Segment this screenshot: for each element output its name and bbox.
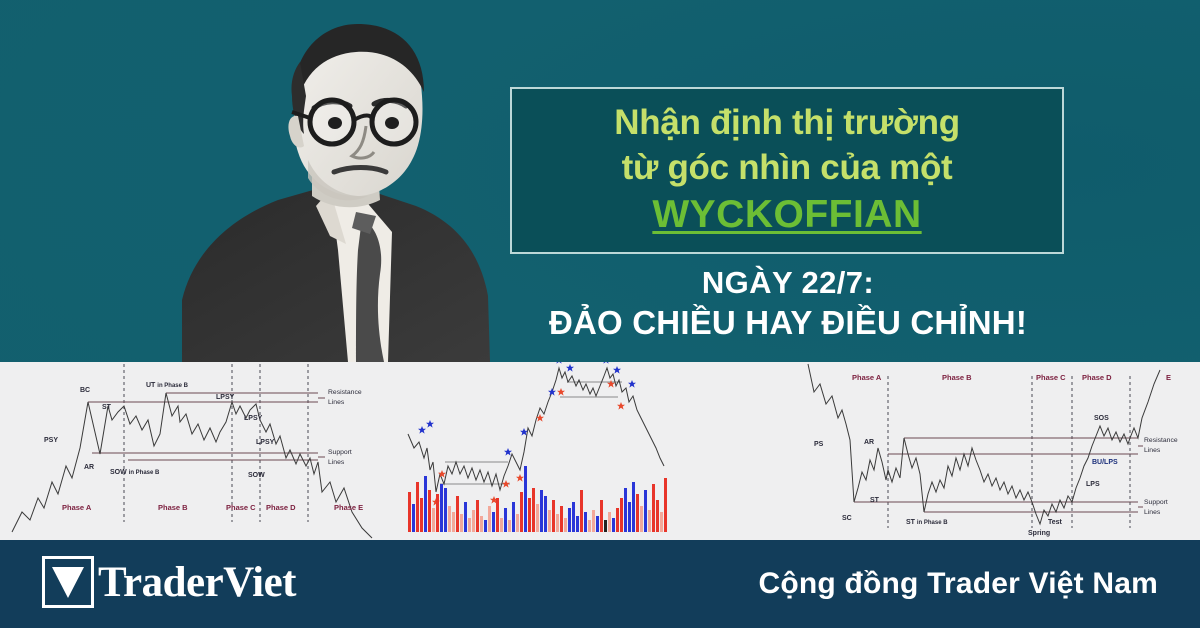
headline-line-2: từ góc nhìn của một [622,146,953,191]
svg-text:BC: BC [80,387,90,394]
headline-keyword-wyckoffian: WYCKOFFIAN [652,190,921,240]
svg-text:Lines: Lines [328,399,345,406]
svg-text:Resistance: Resistance [1144,437,1178,444]
svg-text:ST: ST [870,497,880,504]
headline-box: Nhận định thị trường từ góc nhìn của một… [510,87,1064,254]
svg-text:Phase C: Phase C [226,503,256,512]
logo-wordmark: TraderViet [98,561,296,604]
svg-text:LPSY: LPSY [216,394,235,401]
svg-text:Support: Support [1144,499,1168,506]
svg-text:Support: Support [328,449,352,456]
svg-text:Phase A: Phase A [62,503,92,512]
subtitle-line-2: ĐẢO CHIỀU HAY ĐIỀU CHỈNH! [478,304,1098,343]
svg-text:AR: AR [84,464,94,471]
hero-banner: Nhận định thị trường từ góc nhìn của một… [0,0,1200,362]
svg-text:PS: PS [814,441,824,448]
chart-wyckoff-distribution: PSY BC ST AR UT in Phase B SOW in Phase … [0,362,400,540]
svg-text:PSY: PSY [44,437,58,444]
svg-text:AR: AR [864,439,874,446]
svg-text:Resistance: Resistance [328,389,362,396]
svg-text:Phase D: Phase D [1082,373,1112,382]
chart-wyckoff-accumulation: PS SC AR ST ST in Phase B Spring Test LP… [800,362,1200,540]
chart-price-signals [400,362,800,540]
svg-text:Phase B: Phase B [158,503,188,512]
svg-text:Lines: Lines [328,459,345,466]
svg-text:Spring: Spring [1028,530,1050,537]
svg-text:ST in Phase B: ST in Phase B [906,519,948,526]
svg-text:SOW: SOW [248,472,265,479]
svg-text:LPS: LPS [1086,481,1100,488]
svg-text:SOS: SOS [1094,415,1109,422]
svg-text:LPSY: LPSY [256,439,275,446]
wyckoff-portrait [180,0,500,362]
svg-text:BU/LPS: BU/LPS [1092,459,1118,466]
traderviet-logo[interactable]: TraderViet [42,556,296,608]
svg-text:ST: ST [102,404,112,411]
svg-text:SOW in Phase B: SOW in Phase B [110,469,160,476]
chart-strip: PSY BC ST AR UT in Phase B SOW in Phase … [0,362,1200,540]
svg-text:SC: SC [842,515,852,522]
svg-text:Phase A: Phase A [852,373,882,382]
svg-text:Lines: Lines [1144,509,1161,516]
footer-bar: TraderViet Cộng đồng Trader Việt Nam [0,540,1200,628]
svg-text:Phase E: Phase E [334,503,363,512]
svg-text:Phase B: Phase B [942,373,972,382]
logo-v-icon [42,556,94,608]
svg-text:UT in Phase B: UT in Phase B [146,382,189,389]
subtitle-line-1: NGÀY 22/7: [478,265,1098,302]
svg-text:Phase D: Phase D [266,503,296,512]
svg-text:E: E [1166,373,1171,382]
subtitle-block: NGÀY 22/7: ĐẢO CHIỀU HAY ĐIỀU CHỈNH! [478,265,1098,343]
footer-tagline: Cộng đồng Trader Việt Nam [759,567,1159,601]
svg-text:Phase C: Phase C [1036,373,1066,382]
svg-text:Test: Test [1048,519,1063,526]
svg-text:Lines: Lines [1144,447,1161,454]
svg-text:LPSY: LPSY [244,415,263,422]
headline-line-1: Nhận định thị trường [614,101,960,146]
